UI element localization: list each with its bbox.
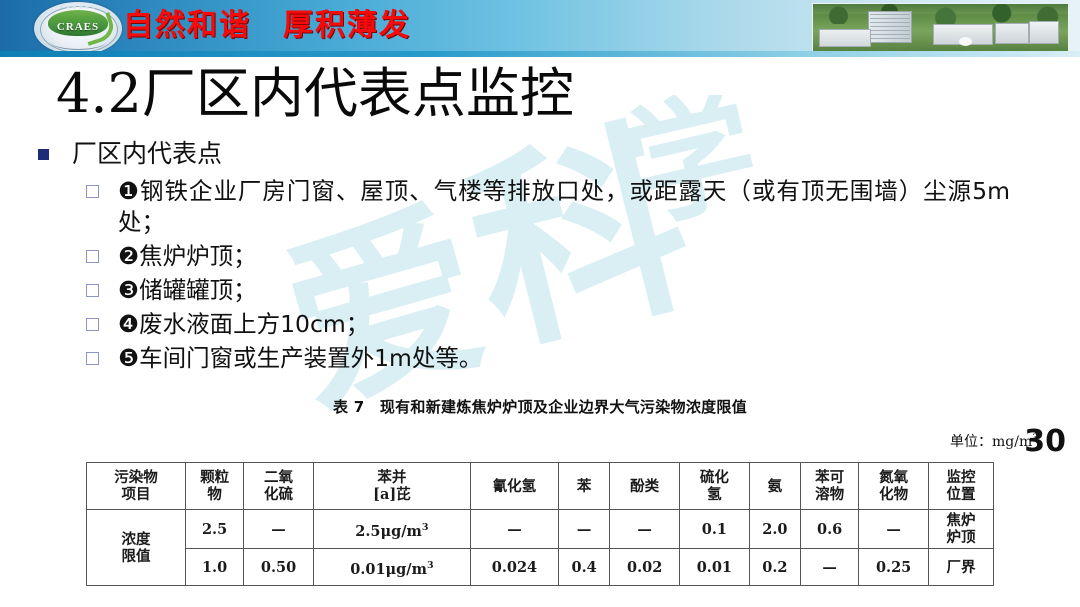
table-caption: 表 7 现有和新建炼焦炉炉顶及企业边界大气污染物浓度限值 <box>0 396 1080 417</box>
pollutant-limits-table: 污染物项目 颗粒物 二氧化硫 苯并[a]芘 氰化氢 苯 酚类 硫化氢 氨 苯可溶… <box>86 462 994 586</box>
cell-r0-c3: — <box>470 510 558 549</box>
presentation-slide: ★★★★★★ CRAES 自然和谐 厚积薄发 爱 科 学 4.2厂区内代表点监控 <box>0 0 1080 607</box>
table-row: 浓度限值 2.5 — 2.5μg/m3 — — — 0.1 2.0 0.6 — … <box>87 510 994 549</box>
cell-r1-c0: 1.0 <box>186 549 244 586</box>
hollow-square-bullet-icon <box>86 352 99 365</box>
square-bullet-icon <box>38 149 49 160</box>
col-header-so2: 二氧化硫 <box>244 463 314 510</box>
col-header-particulate: 颗粒物 <box>186 463 244 510</box>
cell-r1-c2: 0.01μg/m3 <box>313 549 470 586</box>
table-header-row: 污染物项目 颗粒物 二氧化硫 苯并[a]芘 氰化氢 苯 酚类 硫化氢 氨 苯可溶… <box>87 463 994 510</box>
col-header-monitoring-position: 监控位置 <box>929 463 994 510</box>
craes-logo: ★★★★★★ CRAES <box>34 2 122 55</box>
col-header-phenols: 酚类 <box>610 463 680 510</box>
list-item: ❺车间门窗或生产装置外1m处等。 <box>118 343 1080 374</box>
list-item: ❹废水液面上方10cm； <box>118 309 1080 340</box>
list-item-label: ❶钢铁企业厂房门窗、屋顶、气楼等排放口处，或距露天（或有顶无围墙）尘源5m处； <box>118 177 1010 236</box>
page-number: 30 <box>1024 424 1066 459</box>
photo-building-a <box>819 29 871 47</box>
cell-r1-c1: 0.50 <box>244 549 314 586</box>
cell-r0-c2: 2.5μg/m3 <box>313 510 470 549</box>
bullet-level1: 厂区内代表点 <box>72 138 1080 170</box>
cell-r0-c6: 0.1 <box>680 510 750 549</box>
cell-r0-c1: — <box>244 510 314 549</box>
table-unit-note: 单位：mg/m3 <box>0 431 1080 451</box>
col-header-hcn: 氰化氢 <box>470 463 558 510</box>
cell-r1-position: 厂界 <box>929 549 994 586</box>
table-head: 污染物项目 颗粒物 二氧化硫 苯并[a]芘 氰化氢 苯 酚类 硫化氢 氨 苯可溶… <box>87 463 994 510</box>
list-item-label: ❺车间门窗或生产装置外1m处等。 <box>118 344 482 372</box>
cell-r1-c5: 0.02 <box>610 549 680 586</box>
slide-body: 厂区内代表点 ❶钢铁企业厂房门窗、屋顶、气楼等排放口处，或距露天（或有顶无围墙）… <box>0 138 1080 377</box>
table-body: 浓度限值 2.5 — 2.5μg/m3 — — — 0.1 2.0 0.6 — … <box>87 510 994 586</box>
list-item-label: ❷焦炉炉顶； <box>118 242 257 270</box>
col-header-nox: 氮氧化物 <box>859 463 929 510</box>
list-item-label: ❹废水液面上方10cm； <box>118 310 369 338</box>
hollow-square-bullet-icon <box>86 284 99 297</box>
table-block: 表 7 现有和新建炼焦炉炉顶及企业边界大气污染物浓度限值 单位：mg/m3 污染… <box>0 396 1080 451</box>
slide-title: 4.2厂区内代表点监控 <box>56 61 574 127</box>
photo-tower-building <box>868 11 912 43</box>
list-item: ❷焦炉炉顶； <box>118 241 1080 272</box>
col-header-pollutant: 污染物项目 <box>87 463 186 510</box>
col-header-benzene: 苯 <box>558 463 609 510</box>
bullet-level2-list: ❶钢铁企业厂房门窗、屋顶、气楼等排放口处，或距露天（或有顶无围墙）尘源5m处； … <box>0 176 1080 374</box>
campus-aerial-photo <box>812 3 1069 53</box>
list-item-label: ❸储罐罐顶； <box>118 276 257 304</box>
table-row: 1.0 0.50 0.01μg/m3 0.024 0.4 0.02 0.01 0… <box>87 549 994 586</box>
header-slogan: 自然和谐 厚积薄发 <box>123 9 411 43</box>
cell-r1-c6: 0.01 <box>680 549 750 586</box>
cell-r1-c4: 0.4 <box>558 549 609 586</box>
photo-building-d <box>1029 21 1059 44</box>
unit-label: 单位： <box>950 434 992 450</box>
cell-r1-c7: 0.2 <box>749 549 800 586</box>
col-header-benzene-soluble: 苯可溶物 <box>801 463 859 510</box>
photo-building-c <box>995 23 1029 44</box>
cell-r0-c4: — <box>558 510 609 549</box>
header-underline <box>0 51 1080 57</box>
cell-r0-c8: 0.6 <box>801 510 859 549</box>
bullet-level1-label: 厂区内代表点 <box>72 139 222 168</box>
list-item: ❸储罐罐顶； <box>118 275 1080 306</box>
col-header-benzo-a-pyrene: 苯并[a]芘 <box>313 463 470 510</box>
slide-header-band: ★★★★★★ CRAES 自然和谐 厚积薄发 <box>0 0 1080 57</box>
hollow-square-bullet-icon <box>86 318 99 331</box>
cell-r0-c9: — <box>859 510 929 549</box>
logo-stars: ★★★★★★ <box>44 4 112 11</box>
cell-r1-c3: 0.024 <box>470 549 558 586</box>
cell-r0-c0: 2.5 <box>186 510 244 549</box>
cell-r0-position: 焦炉炉顶 <box>929 510 994 549</box>
hollow-square-bullet-icon <box>86 250 99 263</box>
col-header-h2s: 硫化氢 <box>680 463 750 510</box>
cell-r0-c7: 2.0 <box>749 510 800 549</box>
cell-r1-c9: 0.25 <box>859 549 929 586</box>
col-header-ammonia: 氨 <box>749 463 800 510</box>
hollow-square-bullet-icon <box>86 185 99 198</box>
logo-arc <box>50 33 106 50</box>
cell-r0-c5: — <box>610 510 680 549</box>
list-item: ❶钢铁企业厂房门窗、屋顶、气楼等排放口处，或距露天（或有顶无围墙）尘源5m处； <box>118 176 1080 238</box>
cell-r1-c8: — <box>801 549 859 586</box>
photo-dome <box>959 37 972 46</box>
row-header-limit: 浓度限值 <box>87 510 186 586</box>
logo-wordmark: CRAES <box>34 21 122 33</box>
